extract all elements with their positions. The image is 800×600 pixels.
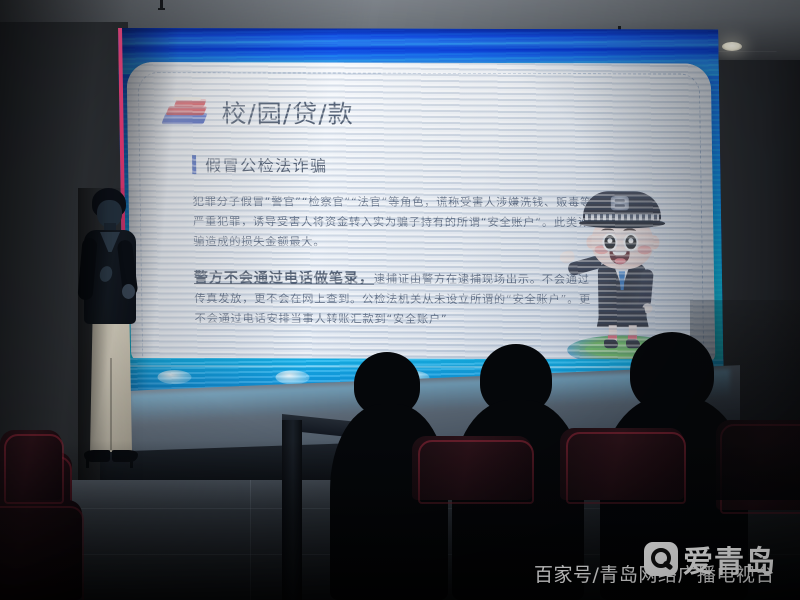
mascot-eye-left: [602, 233, 617, 251]
watermark-brand-text: 爱青岛: [683, 537, 776, 581]
book-middle: [166, 106, 208, 115]
mascot-lowered-arm: [638, 269, 653, 308]
slide-subtitle-row: 假冒公检法诈骗: [192, 152, 692, 177]
paragraph-two-lead: 警方不会通过电话做笔录，: [194, 270, 374, 286]
mascot-cap-badge-icon: [611, 196, 629, 210]
mascot-skirt: [596, 307, 648, 327]
presenter-shadow: [78, 188, 144, 480]
mascot-eye-right: [623, 233, 638, 251]
paragraph-two: 警方不会通过电话做笔录，逮捕证由警方在逮捕现场出示。不会通过传真发放，更不会在网…: [194, 268, 595, 330]
mascot-shoe-left: [604, 339, 618, 348]
mascot-tongue: [615, 258, 626, 264]
slide-subtitle: 假冒公检法诈骗: [205, 152, 328, 176]
lecture-hall-photo: 校/园/贷/款 假冒公检法诈骗 犯罪分子假冒“警官”“检察官”“法官”等角色，谎…: [0, 0, 800, 600]
q-logo-icon: [644, 542, 678, 576]
led-presentation-screen: 校/园/贷/款 假冒公检法诈骗 犯罪分子假冒“警官”“检察官”“法官”等角色，谎…: [118, 28, 724, 402]
slide-title-row: 校/园/贷/款: [163, 94, 692, 131]
book-pages: [173, 97, 202, 100]
mascot-cap-band: [585, 214, 659, 220]
page-title: 校/园/贷/款: [221, 94, 354, 130]
watermark-logo: 爱青岛: [644, 537, 776, 581]
mascot-cheek-right: [637, 245, 651, 254]
slide-content-card: 校/园/贷/款 假冒公检法诈骗 犯罪分子假冒“警官”“检察官”“法官”等角色，谎…: [127, 62, 716, 363]
paragraph-one: 犯罪分子假冒“警官”“检察官”“法官”等角色，谎称受害人涉嫌洗钱、贩毒等严重犯罪…: [193, 192, 594, 253]
subtitle-accent-bar: [192, 155, 196, 174]
stacked-books-icon: [163, 97, 209, 127]
standing-presenter: [78, 188, 144, 480]
recessed-ceiling-light: [722, 42, 742, 51]
book-top: [174, 99, 207, 107]
